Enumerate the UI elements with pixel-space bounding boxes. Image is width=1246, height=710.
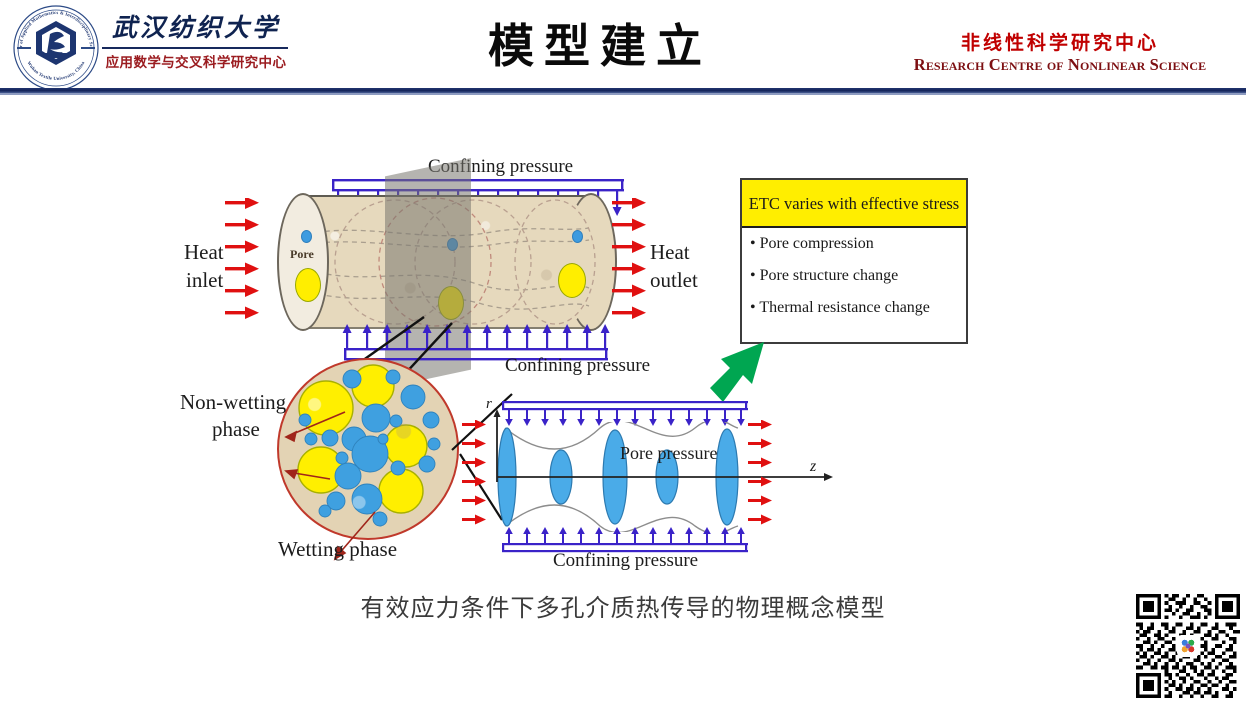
heat-outlet-label-line1: Heat (650, 240, 690, 264)
research-centre-name-en: Research Centre of Nonlinear Science (880, 55, 1240, 75)
wetting-phase-label: Wetting phase (278, 537, 397, 561)
pore-blue-small (572, 230, 583, 243)
slide-title: 模型建立 (400, 12, 800, 82)
wechat-qr-code[interactable] (1136, 592, 1240, 700)
axis-r-label: r (486, 396, 492, 413)
seal-icon: Center of Applied Mathematics & Interdis… (12, 4, 100, 92)
etc-info-box: ETC varies with effective stress • Pore … (740, 178, 968, 344)
concept-model-figure: Confining pressure (0, 100, 1246, 600)
university-logo: Center of Applied Mathematics & Interdis… (12, 4, 100, 92)
research-centre-name-cn: 非线性科学研究中心 (880, 28, 1240, 55)
heat-inlet-label-line2: inlet (186, 268, 223, 292)
university-name-divider (102, 47, 288, 49)
etc-bullet-0: • Pore compression (742, 228, 966, 260)
pore-blue-small (301, 230, 312, 243)
pore-pressure-label: Pore pressure (620, 443, 717, 464)
tube-confining-pressure-label: Confining pressure (553, 550, 698, 572)
confining-pressure-bottom-label: Confining pressure (505, 355, 650, 377)
figure-caption: 有效应力条件下多孔介质热传导的物理概念模型 (0, 588, 1246, 623)
tube-heat-arrows-right (748, 420, 784, 535)
qr-code-icon (1136, 592, 1240, 700)
heat-inlet-label-line1: Heat (184, 240, 224, 264)
etc-bullet-1: • Pore structure change (742, 260, 966, 292)
university-subtitle-cn: 应用数学与交叉科学研究中心 (100, 51, 292, 71)
etc-bullet-2: • Thermal resistance change (742, 292, 966, 324)
heat-outlet-label-line2: outlet (650, 268, 698, 292)
university-name-cn: 武汉纺织大学 (100, 14, 292, 44)
etc-box-title: ETC varies with effective stress (742, 180, 966, 228)
pore-yellow-right (558, 263, 586, 298)
non-wetting-phase-label-line2: phase (212, 417, 260, 441)
heat-inlet-arrows (225, 198, 277, 328)
tube-heat-arrows-left (462, 420, 498, 535)
header-divider-bar-light (0, 93, 1246, 95)
non-wetting-phase-label-line1: Non-wetting (180, 390, 286, 414)
axis-z-label: z (810, 458, 816, 476)
slide-header: Center of Applied Mathematics & Interdis… (0, 0, 1246, 92)
pore-label: Pore (290, 248, 314, 262)
university-name-block: 武汉纺织大学 应用数学与交叉科学研究中心 (100, 14, 292, 80)
green-up-right-arrow-icon (706, 328, 780, 406)
